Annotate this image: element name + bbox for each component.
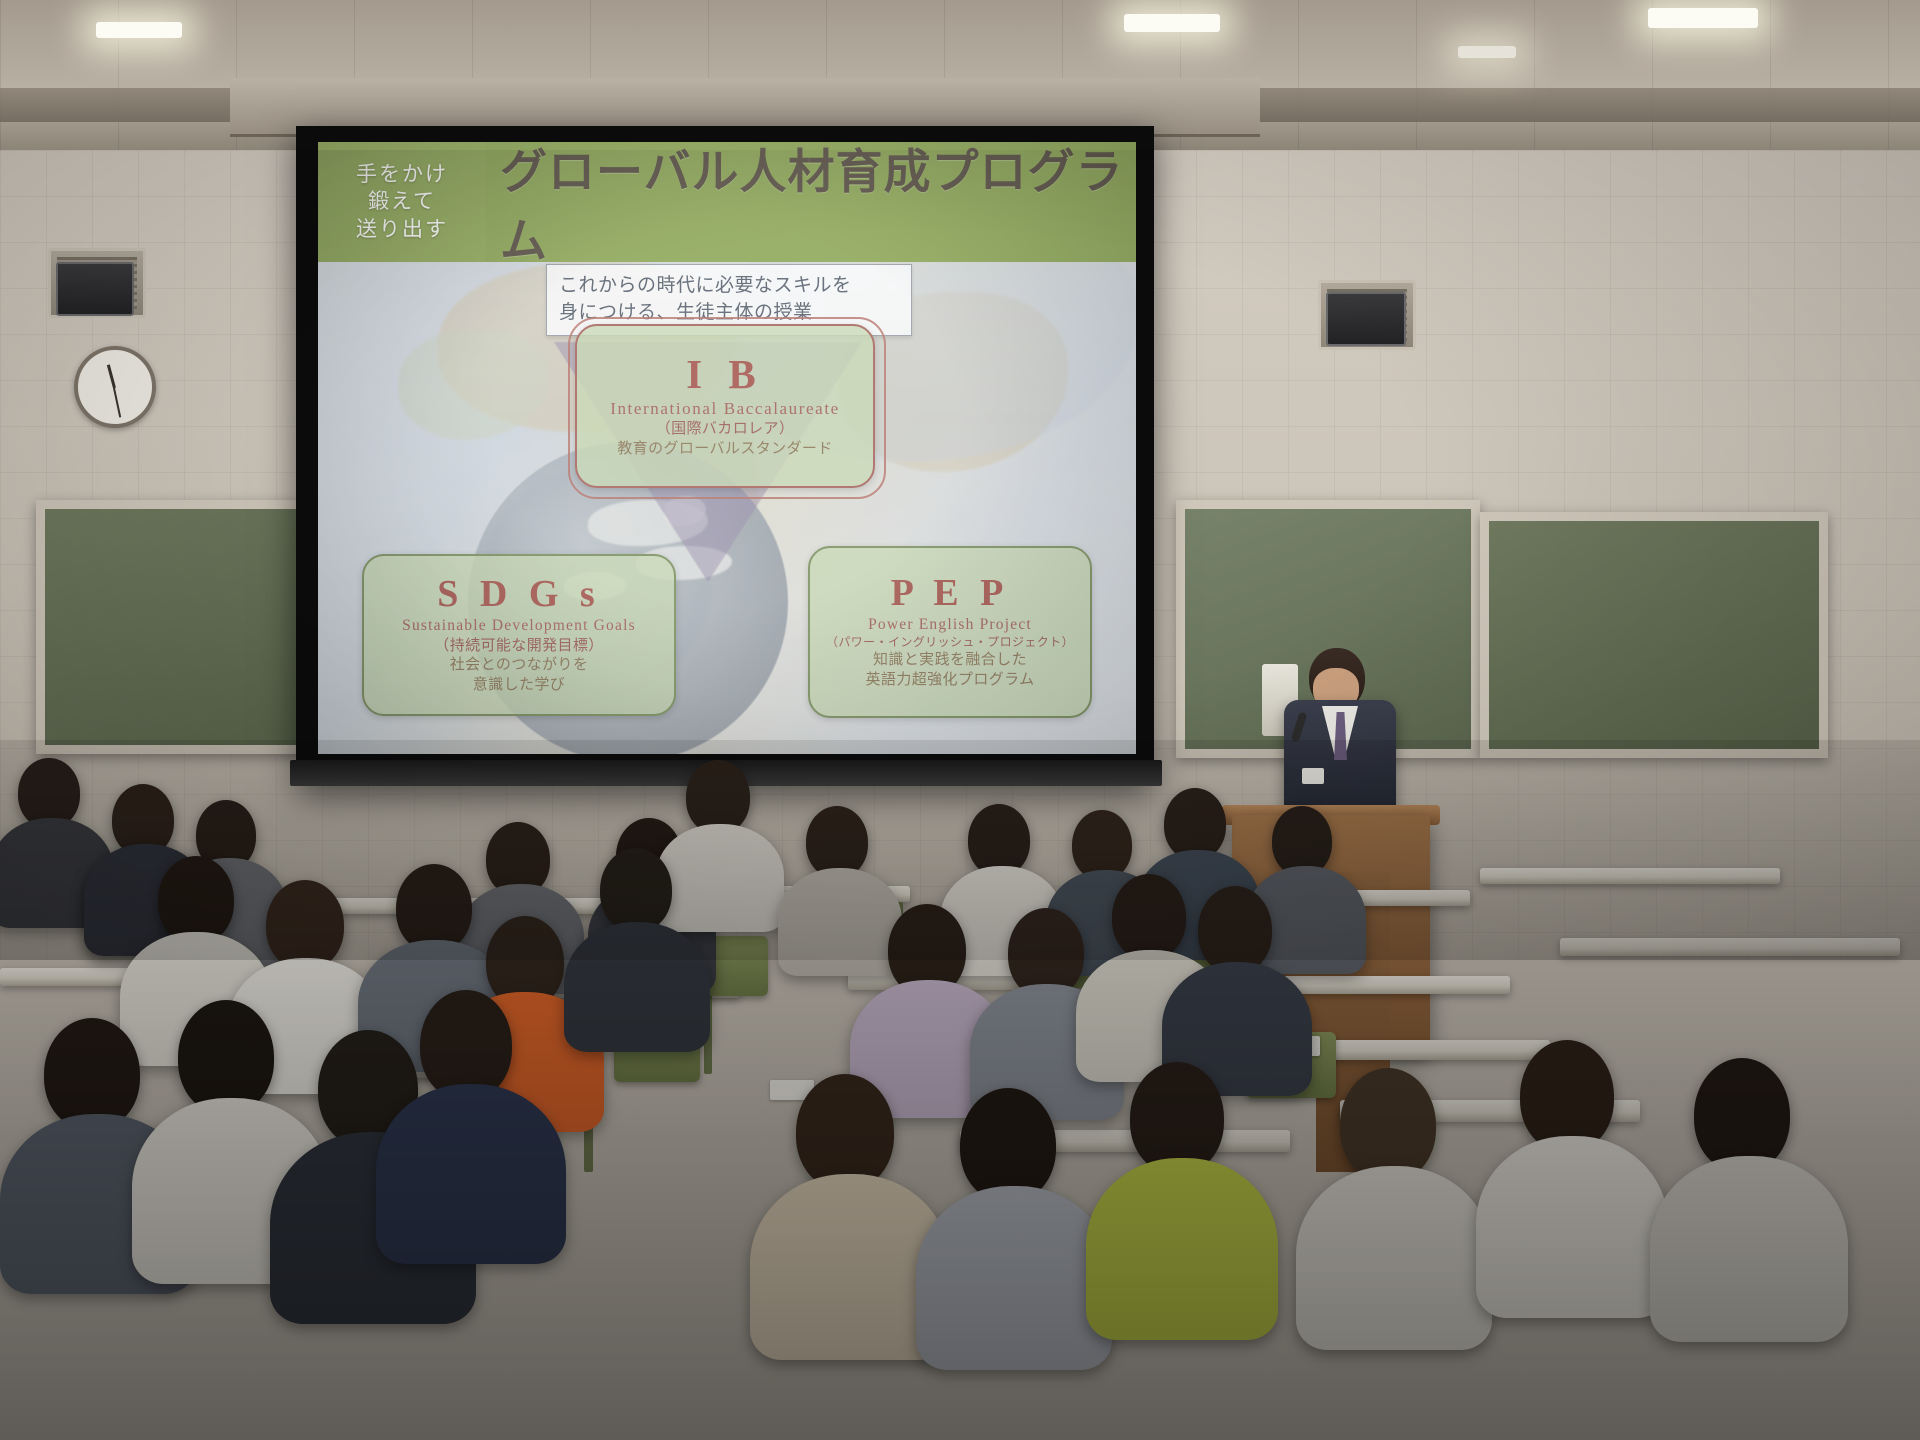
attendee-body: [916, 1186, 1112, 1370]
attendee-head: [960, 1088, 1056, 1202]
attendee-body: [1476, 1136, 1668, 1318]
attendee-head: [1340, 1068, 1436, 1182]
attendee-head: [1694, 1058, 1790, 1172]
attendee-body: [1086, 1158, 1278, 1340]
attendee-head: [796, 1074, 894, 1190]
ceiling-light-2: [1124, 14, 1220, 32]
attendee-body: [1296, 1166, 1492, 1350]
attendee-body: [376, 1084, 566, 1264]
lecture-hall-photo: 手をかけ 鍛えて 送り出す グローバル人材育成プログラム これからの時代に必要な…: [0, 0, 1920, 1440]
desk-row-3-c: [1300, 1040, 1550, 1060]
room-vignette: [0, 150, 1920, 960]
attendee-head: [178, 1000, 274, 1114]
ceiling-light-1: [96, 22, 182, 38]
ceiling-light-4: [1458, 46, 1516, 58]
ceiling-light-3: [1648, 8, 1758, 28]
attendee-body: [1650, 1156, 1848, 1342]
